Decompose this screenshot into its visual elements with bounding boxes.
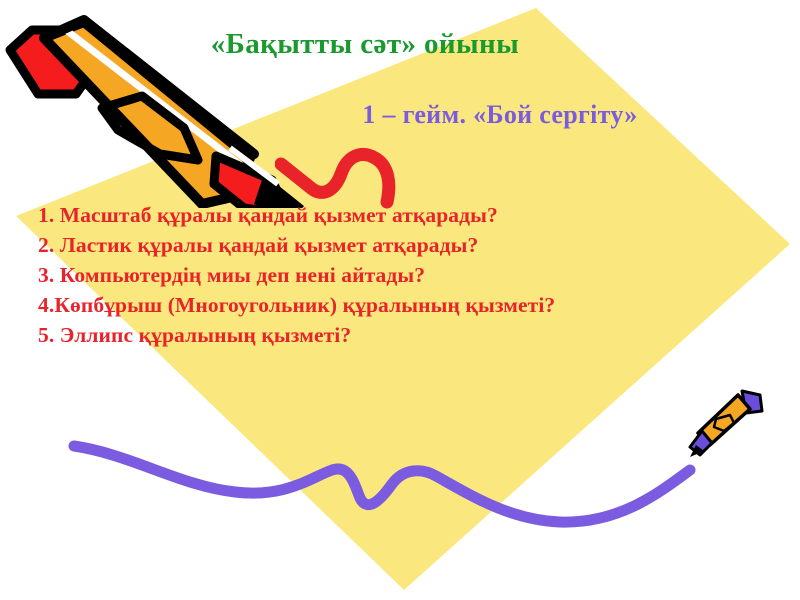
question-list: 1. Масштаб құралы қандай қызмет атқарады…: [38, 200, 738, 350]
question-item: 3. Компьютердің миы деп нені айтады?: [38, 260, 738, 290]
slide-canvas: «Бақытты сәт» ойыны 1 – гейм. «Бой сергі…: [0, 0, 800, 600]
question-item: 5. Эллипс құралының қызметі?: [38, 320, 738, 350]
page-subtitle: 1 – гейм. «Бой сергіту»: [0, 100, 800, 130]
page-title: «Бақытты сәт» ойыны: [0, 28, 800, 61]
question-item: 4.Көпбұрыш (Многоугольник) құралының қыз…: [38, 290, 738, 320]
purple-wave-icon: [60, 420, 760, 530]
small-pencil-icon: [680, 385, 770, 465]
question-item: 2. Ластик құралы қандай қызмет атқарады?: [38, 230, 738, 260]
question-item: 1. Масштаб құралы қандай қызмет атқарады…: [38, 200, 738, 230]
